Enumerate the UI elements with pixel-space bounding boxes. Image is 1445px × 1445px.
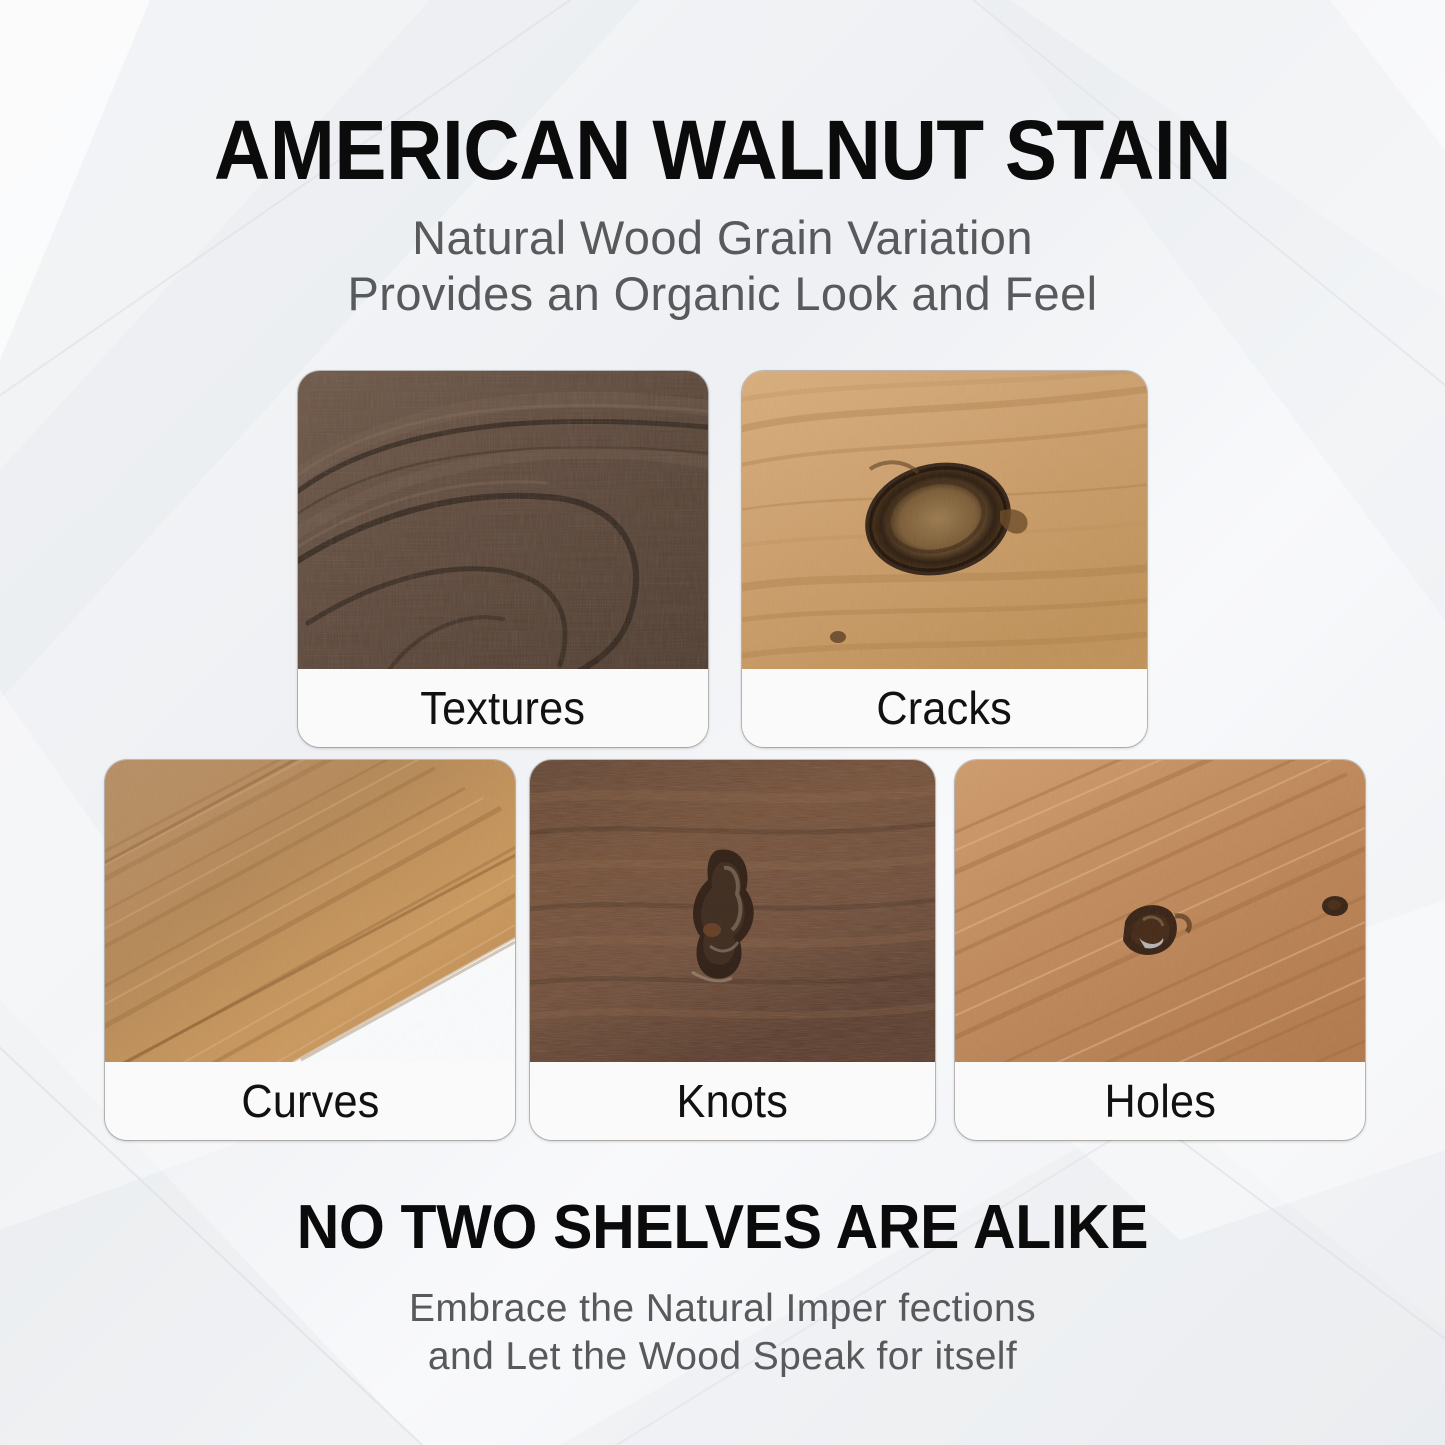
cracks-photo: [742, 371, 1147, 669]
knots-photo: [530, 760, 935, 1062]
dark-brown-knot-swatch: [530, 760, 935, 1062]
card-label-cracks-text: Cracks: [877, 681, 1013, 735]
curves-photo: [105, 760, 515, 1062]
textures-photo: [298, 371, 708, 669]
subtitle-line-2: Provides an Organic Look and Feel: [0, 266, 1445, 322]
card-label-curves-text: Curves: [241, 1074, 379, 1128]
feature-card-curves[interactable]: Curves: [105, 760, 515, 1140]
subtitle-block: Natural Wood Grain Variation Provides an…: [0, 210, 1445, 322]
feature-card-textures[interactable]: Textures: [298, 371, 708, 747]
footer-subtitle-block: Embrace the Natural Imper fections and L…: [0, 1285, 1445, 1381]
card-label-holes-text: Holes: [1104, 1074, 1215, 1128]
light-oak-knot-swatch: [742, 371, 1147, 669]
footer-subtitle-line-1: Embrace the Natural Imper fections: [0, 1285, 1445, 1333]
card-label-curves: Curves: [105, 1062, 515, 1140]
card-label-textures: Textures: [298, 669, 708, 747]
card-label-cracks: Cracks: [742, 669, 1147, 747]
card-label-knots: Knots: [530, 1062, 935, 1140]
feature-card-holes[interactable]: Holes: [955, 760, 1365, 1140]
angled-board-edge-swatch: [105, 760, 515, 1062]
tan-wood-holes-swatch: [955, 760, 1365, 1062]
card-label-textures-text: Textures: [421, 681, 586, 735]
footer-title: NO TWO SHELVES ARE ALIKE: [36, 1193, 1409, 1263]
dark-walnut-arc-grain-swatch: [298, 371, 708, 669]
feature-card-knots[interactable]: Knots: [530, 760, 935, 1140]
footer-subtitle-line-2: and Let the Wood Speak for itself: [0, 1333, 1445, 1381]
page-title: AMERICAN WALNUT STAIN: [51, 104, 1395, 196]
card-label-knots-text: Knots: [677, 1074, 789, 1128]
feature-card-cracks[interactable]: Cracks: [742, 371, 1147, 747]
subtitle-line-1: Natural Wood Grain Variation: [0, 210, 1445, 266]
holes-photo: [955, 760, 1365, 1062]
card-label-holes: Holes: [955, 1062, 1365, 1140]
